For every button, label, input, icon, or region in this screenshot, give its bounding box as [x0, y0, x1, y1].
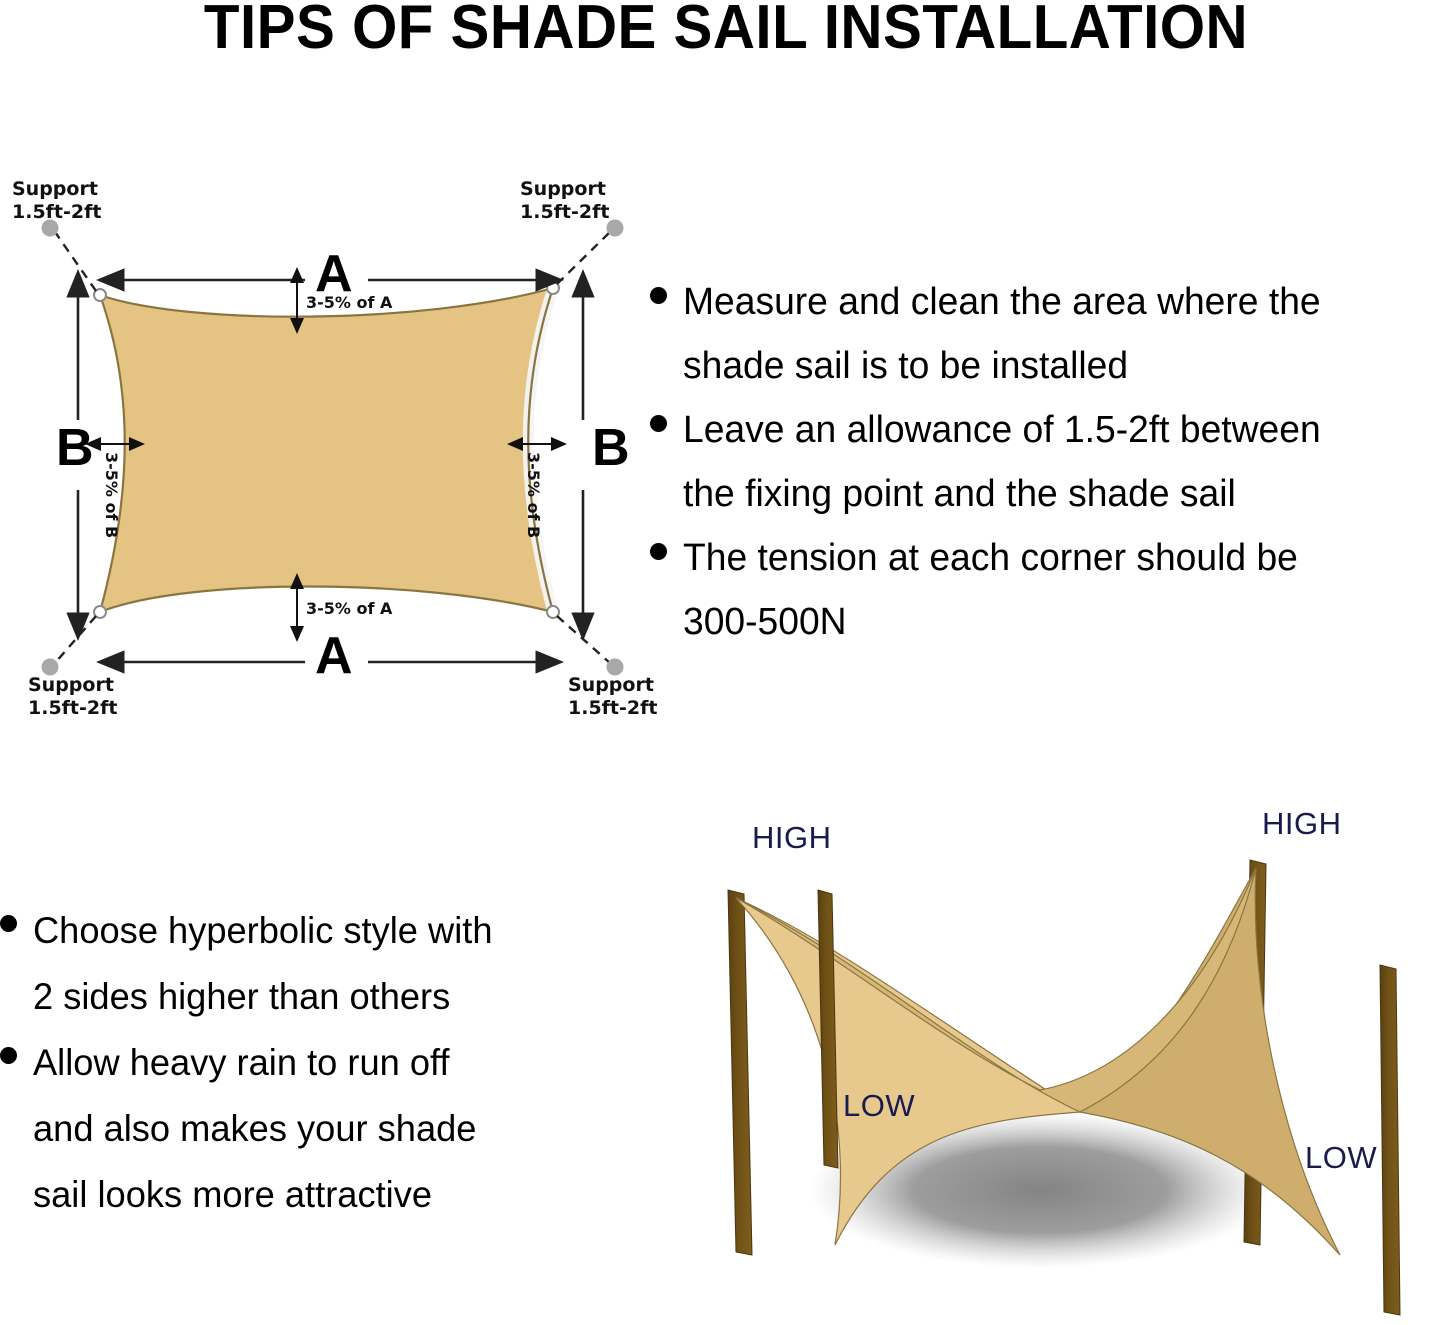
list-item-line: Allow heavy rain to run off [33, 1030, 476, 1096]
support-line-top-right [557, 232, 610, 284]
list-item-line: 2 sides higher than others [33, 964, 493, 1030]
bullet-dot-icon [650, 415, 667, 432]
support-line-top-left [55, 232, 96, 291]
curvature-label-right: 3-5% of B [524, 452, 543, 538]
label-high-left: HIGH [752, 822, 832, 853]
support-label-line1: Support [520, 178, 609, 201]
list-item: Leave an allowance of 1.5-2ft between th… [650, 398, 1450, 526]
label-low-right: LOW [1305, 1142, 1377, 1173]
list-item-line: sail looks more attractive [33, 1162, 476, 1228]
list-item-text: Choose hyperbolic style with 2 sides hig… [33, 898, 502, 1030]
dimension-letter-b-right: B [592, 422, 630, 474]
support-label-line2: 1.5ft-2ft [28, 697, 117, 720]
support-line-bottom-left [55, 616, 96, 663]
support-dot-bottom-left [42, 659, 59, 676]
support-label-line2: 1.5ft-2ft [520, 201, 609, 224]
list-item: The tension at each corner should be 300… [650, 526, 1450, 654]
bullet-dot-icon [650, 287, 667, 304]
list-item-text: The tension at each corner should be 300… [683, 526, 1310, 654]
shade-sail-shape [100, 288, 553, 612]
pole-back-left [728, 890, 752, 1255]
support-label-bottom-right: Support 1.5ft-2ft [568, 674, 657, 720]
list-item-line: The tension at each corner should be [683, 526, 1298, 590]
support-label-line1: Support [568, 674, 657, 697]
sail-illustration-svg [640, 790, 1452, 1325]
installation-tips-list: Measure and clean the area where the sha… [650, 270, 1450, 654]
bullet-dot-icon [0, 1047, 17, 1064]
bullet-dot-icon [650, 543, 667, 560]
list-item-line: Measure and clean the area where the [683, 270, 1321, 334]
dimension-letter-a-bottom: A [315, 630, 353, 682]
list-item-text: Measure and clean the area where the sha… [683, 270, 1334, 398]
page-title: TIPS OF SHADE SAIL INSTALLATION [44, 0, 1409, 62]
support-label-line1: Support [28, 674, 117, 697]
dimension-letter-b-left: B [56, 422, 94, 474]
list-item: Choose hyperbolic style with 2 sides hig… [0, 898, 630, 1030]
hyperbolic-style-tips-list: Choose hyperbolic style with 2 sides hig… [0, 898, 630, 1228]
pole-front-right [1380, 965, 1400, 1315]
label-low-left: LOW [843, 1090, 915, 1121]
list-item-line: Leave an allowance of 1.5-2ft between [683, 398, 1321, 462]
curvature-label-left: 3-5% of B [102, 452, 121, 538]
curvature-label-bottom: 3-5% of A [306, 599, 392, 618]
pole-front-left [818, 890, 838, 1168]
support-label-top-right: Support 1.5ft-2ft [520, 178, 609, 224]
support-label-line1: Support [12, 178, 101, 201]
list-item-line: the fixing point and the shade sail [683, 462, 1321, 526]
support-label-line2: 1.5ft-2ft [12, 201, 101, 224]
list-item-line: Choose hyperbolic style with [33, 898, 493, 964]
support-label-top-left: Support 1.5ft-2ft [12, 178, 101, 224]
support-dot-bottom-right [607, 659, 624, 676]
support-label-bottom-left: Support 1.5ft-2ft [28, 674, 117, 720]
list-item-line: and also makes your shade [33, 1096, 476, 1162]
list-item-line: 300-500N [683, 590, 1298, 654]
list-item-text: Leave an allowance of 1.5-2ft between th… [683, 398, 1334, 526]
curvature-label-top: 3-5% of A [306, 293, 392, 312]
bullet-dot-icon [0, 915, 17, 932]
list-item: Measure and clean the area where the sha… [650, 270, 1450, 398]
list-item: Allow heavy rain to run off and also mak… [0, 1030, 630, 1228]
list-item-text: Allow heavy rain to run off and also mak… [33, 1030, 486, 1228]
label-high-right: HIGH [1262, 808, 1342, 839]
support-line-bottom-right [557, 616, 610, 663]
hyperbolic-sail-illustration: HIGH HIGH LOW LOW [640, 790, 1452, 1325]
rectangular-sail-diagram: Support 1.5ft-2ft Support 1.5ft-2ft Supp… [0, 160, 660, 740]
support-label-line2: 1.5ft-2ft [568, 697, 657, 720]
list-item-line: shade sail is to be installed [683, 334, 1321, 398]
